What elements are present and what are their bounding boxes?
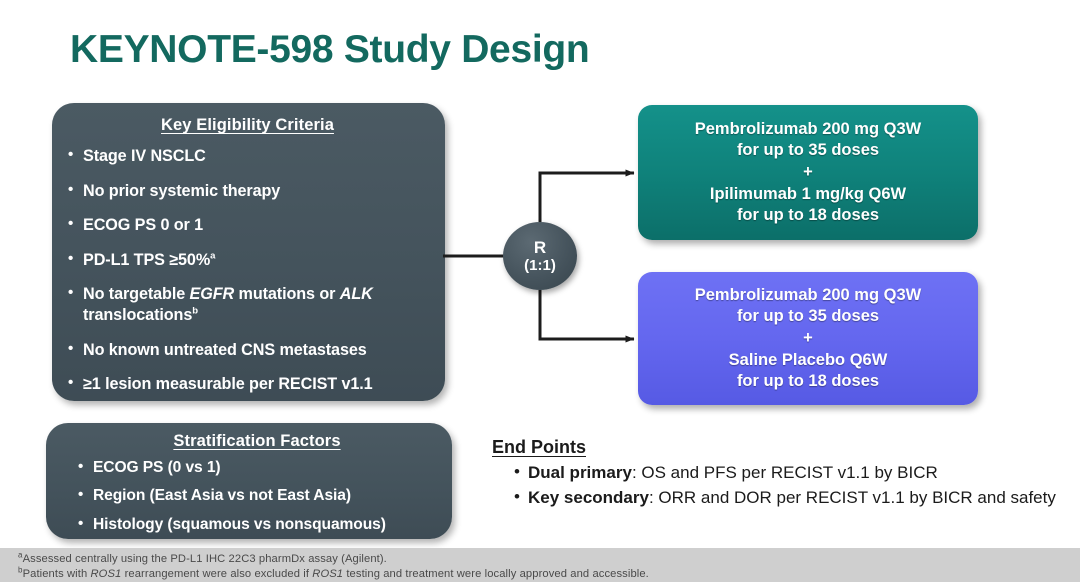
footnote-b: bPatients with ROS1 rearrangement were a… — [18, 568, 649, 580]
eligibility-item: No targetable EGFR mutations or ALK tran… — [66, 284, 429, 326]
footnote-a-text: Assessed centrally using the PD-L1 IHC 2… — [23, 553, 387, 565]
footnote-a: aAssessed centrally using the PD-L1 IHC … — [18, 553, 387, 565]
eligibility-item: ECOG PS 0 or 1 — [66, 215, 429, 236]
eligibility-item: No known untreated CNS metastases — [66, 340, 429, 361]
footnote-marker-a: a — [210, 250, 215, 261]
eligibility-item: ≥1 lesion measurable per RECIST v1.1 — [66, 374, 429, 395]
endpoint-separator: : — [632, 463, 641, 482]
page-title: KEYNOTE-598 Study Design — [70, 28, 589, 72]
eligibility-heading: Key Eligibility Criteria — [66, 116, 429, 135]
endpoints-list: Dual primary: OS and PFS per RECIST v1.1… — [492, 462, 1062, 509]
stratification-list: ECOG PS (0 vs 1) Region (East Asia vs no… — [76, 458, 438, 535]
stratification-panel: Stratification Factors ECOG PS (0 vs 1) … — [46, 423, 452, 539]
randomization-label: R — [534, 238, 546, 258]
stratification-item: Region (East Asia vs not East Asia) — [76, 486, 438, 506]
arm-line: Pembrolizumab 200 mg Q3W — [695, 285, 921, 306]
endpoint-label: Dual primary — [528, 463, 632, 482]
experimental-arm-box: Pembrolizumab 200 mg Q3W for up to 35 do… — [638, 105, 978, 240]
endpoint-item: Key secondary: ORR and DOR per RECIST v1… — [514, 487, 1062, 510]
eligibility-item: No prior systemic therapy — [66, 181, 429, 202]
arm-plus: + — [803, 162, 813, 183]
eligibility-panel: Key Eligibility Criteria Stage IV NSCLC … — [52, 103, 445, 401]
stratification-heading: Stratification Factors — [76, 432, 438, 451]
stratification-item: ECOG PS (0 vs 1) — [76, 458, 438, 478]
arm-line: for up to 18 doses — [737, 205, 879, 226]
arm-line: Saline Placebo Q6W — [729, 350, 888, 371]
arm-line: Pembrolizumab 200 mg Q3W — [695, 119, 921, 140]
gene-egfr: EGFR — [190, 285, 235, 303]
connector-randomization-to-control — [540, 290, 634, 339]
stratification-item: Histology (squamous vs nonsquamous) — [76, 515, 438, 535]
gene-ros1-second: ROS1 — [312, 568, 343, 580]
arm-line: for up to 18 doses — [737, 371, 879, 392]
footnote-band: aAssessed centrally using the PD-L1 IHC … — [0, 548, 1080, 582]
gene-alk: ALK — [340, 285, 373, 303]
eligibility-item: Stage IV NSCLC — [66, 146, 429, 167]
control-arm-box: Pembrolizumab 200 mg Q3W for up to 35 do… — [638, 272, 978, 405]
eligibility-item: PD-L1 TPS ≥50%a — [66, 250, 429, 271]
eligibility-list: Stage IV NSCLC No prior systemic therapy… — [66, 146, 429, 396]
footnote-b-after: testing and treatment were locally appro… — [343, 568, 649, 580]
endpoint-item: Dual primary: OS and PFS per RECIST v1.1… — [514, 462, 1062, 485]
endpoint-text: OS and PFS per RECIST v1.1 by BICR — [641, 463, 937, 482]
arm-line: for up to 35 doses — [737, 306, 879, 327]
eligibility-item-text: PD-L1 TPS ≥50% — [83, 251, 210, 269]
endpoint-separator: : — [649, 488, 658, 507]
connector-randomization-to-experimental — [540, 173, 634, 222]
arm-line: Ipilimumab 1 mg/kg Q6W — [710, 184, 906, 205]
arm-line: for up to 35 doses — [737, 140, 879, 161]
gene-ros1-first: ROS1 — [91, 568, 122, 580]
endpoint-label: Key secondary — [528, 488, 649, 507]
endpoint-text: ORR and DOR per RECIST v1.1 by BICR and … — [658, 488, 1055, 507]
footnote-b-middle: rearrangement were also excluded if — [121, 568, 312, 580]
randomization-ratio: (1:1) — [524, 257, 556, 274]
footnote-b-before: Patients with — [23, 568, 91, 580]
endpoints-heading: End Points — [492, 437, 1062, 458]
footnote-marker-b: b — [192, 306, 198, 317]
endpoints-block: End Points Dual primary: OS and PFS per … — [492, 437, 1062, 511]
randomization-node: R (1:1) — [503, 222, 577, 290]
arm-plus: + — [803, 328, 813, 349]
